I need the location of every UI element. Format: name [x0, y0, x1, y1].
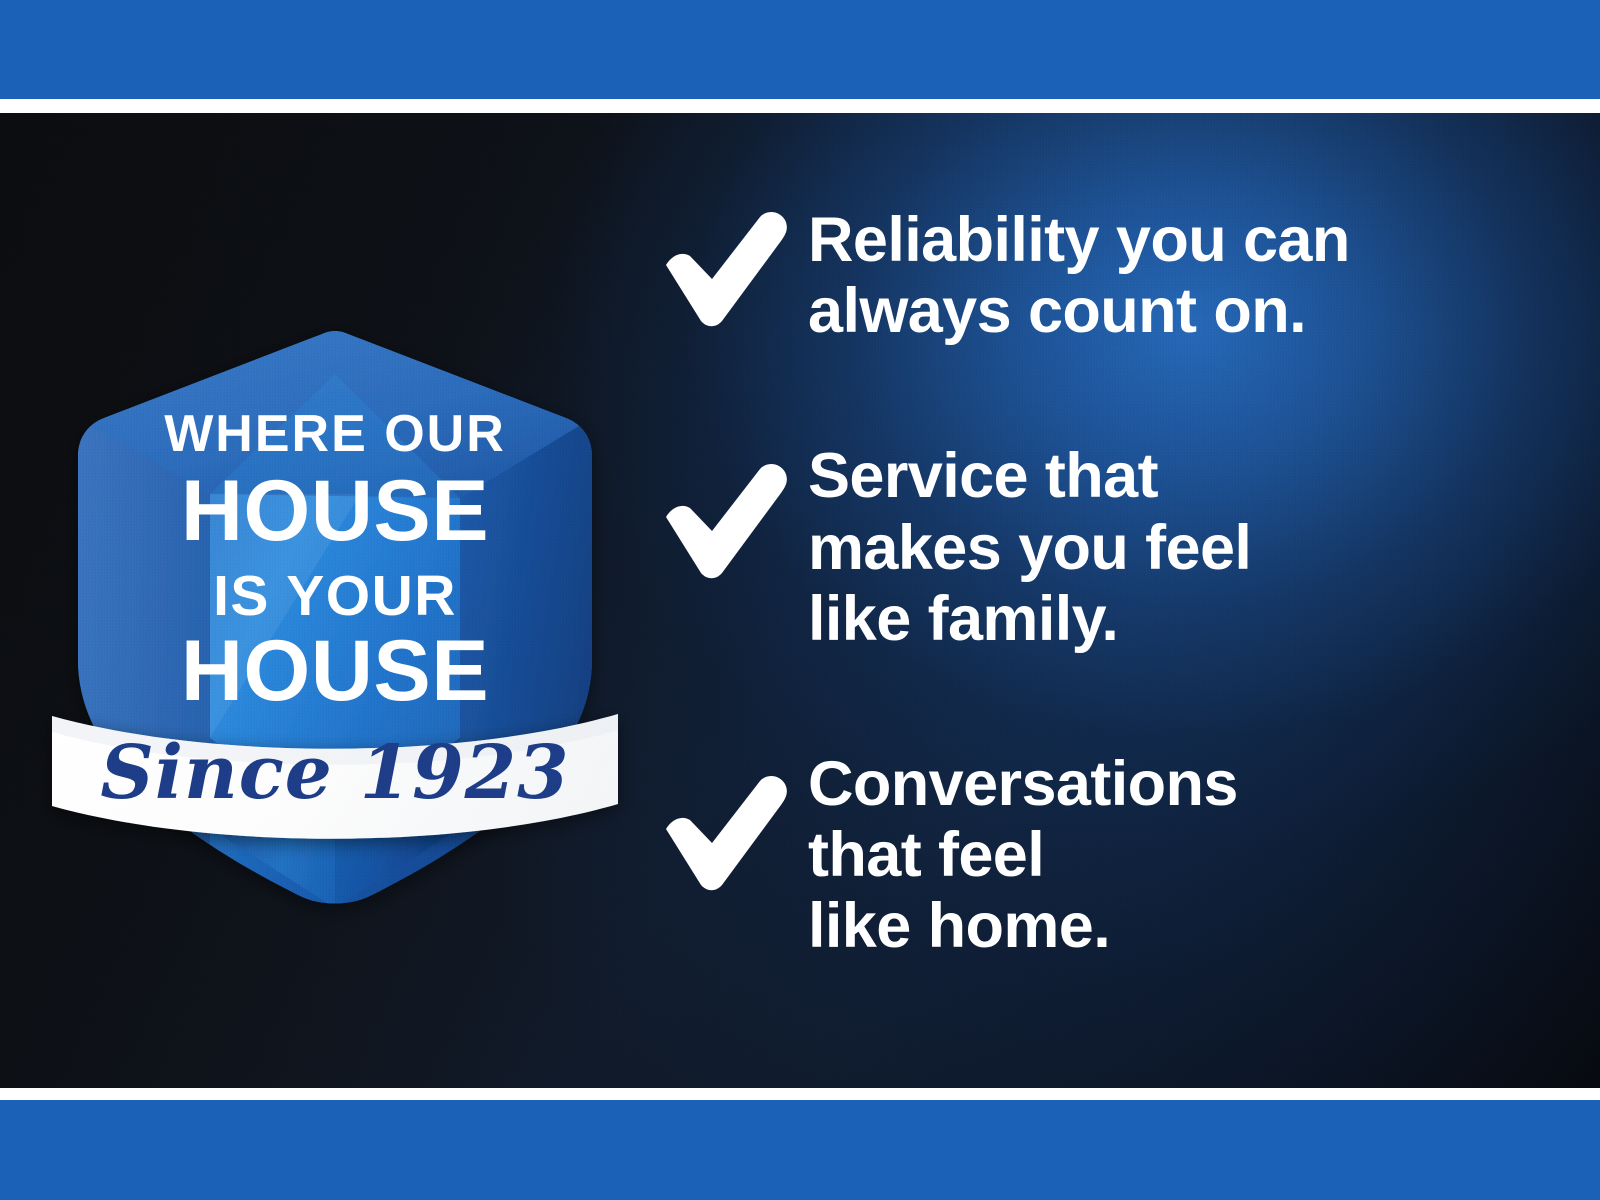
main-stage: WHERE OUR HOUSE IS YOUR HOUSE Since 1923: [0, 113, 1600, 1088]
list-item: Conversations that feel like home.: [660, 747, 1490, 963]
list-item-text: Service that makes you feel like family.: [808, 439, 1251, 655]
list-item: Service that makes you feel like family.: [660, 439, 1490, 655]
list-item-text: Conversations that feel like home.: [808, 747, 1238, 963]
checkmark-icon: [660, 209, 790, 327]
bottom-brand-bar: [0, 1100, 1600, 1200]
shield-banner-text: Since 1923: [100, 730, 569, 816]
promo-graphic-canvas: WHERE OUR HOUSE IS YOUR HOUSE Since 1923: [0, 0, 1600, 1200]
checkmark-icon: [660, 461, 790, 579]
shield-line-1: WHERE OUR: [164, 405, 506, 463]
shield-logo: WHERE OUR HOUSE IS YOUR HOUSE Since 1923: [60, 268, 610, 908]
shield-line-3: IS YOUR: [213, 564, 457, 628]
top-white-stripe: [0, 99, 1600, 113]
list-item-text: Reliability you can always count on.: [808, 203, 1350, 347]
benefits-list: Reliability you can always count on. Ser…: [660, 203, 1490, 963]
checkmark-icon: [660, 773, 790, 891]
shield-line-2: HOUSE: [181, 463, 489, 559]
bottom-white-stripe: [0, 1088, 1600, 1100]
list-item: Reliability you can always count on.: [660, 203, 1490, 347]
top-brand-bar: [0, 0, 1600, 99]
shield-line-4: HOUSE: [181, 623, 489, 719]
